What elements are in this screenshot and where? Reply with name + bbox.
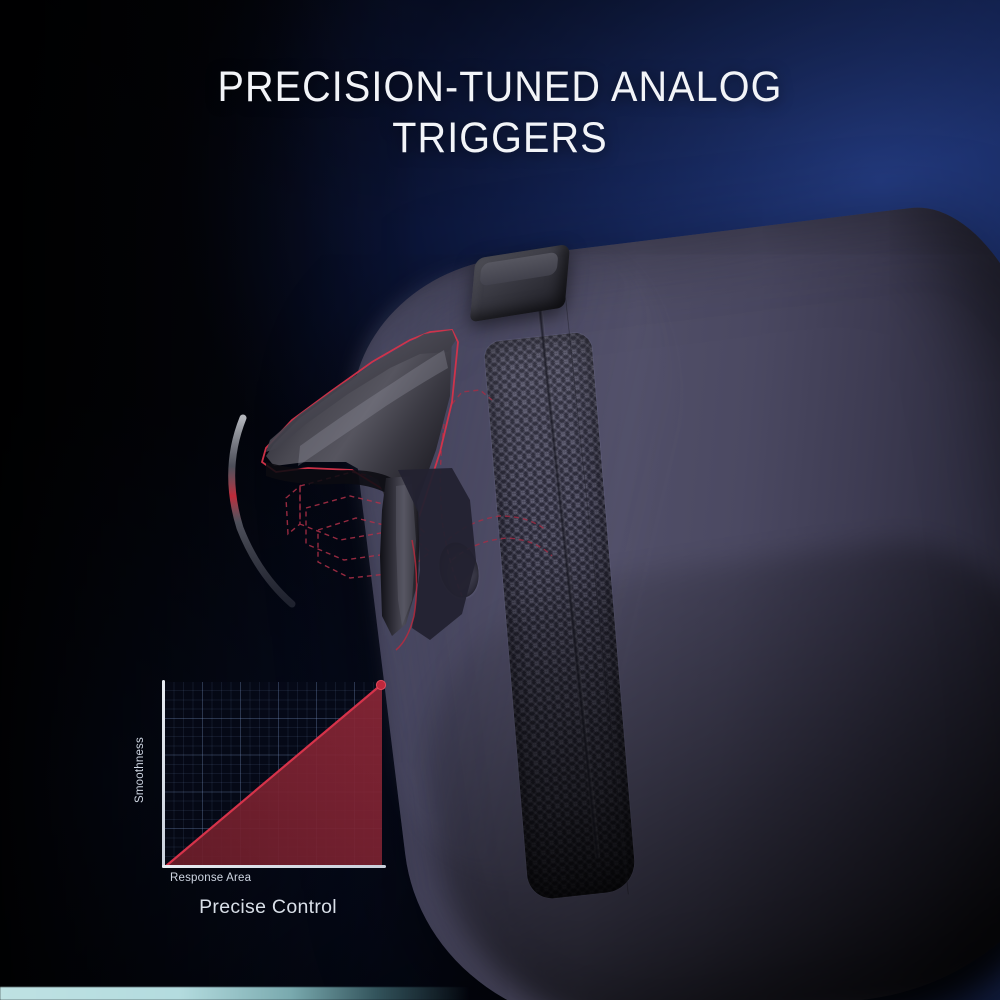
- product-feature-banner: PRECISION-TUNED ANALOG TRIGGERS: [0, 0, 1000, 1000]
- response-curve-chart: Smoothness Response Area Precise Control: [128, 664, 408, 924]
- chart-caption: Precise Control: [128, 896, 408, 919]
- chart-peak-marker: [164, 682, 384, 868]
- chart-x-axis-label: Response Area: [170, 872, 251, 884]
- bottom-accent-strip: [0, 987, 470, 1000]
- chart-y-axis-label: Smoothness: [134, 710, 146, 830]
- page-title: PRECISION-TUNED ANALOG TRIGGERS: [40, 62, 960, 163]
